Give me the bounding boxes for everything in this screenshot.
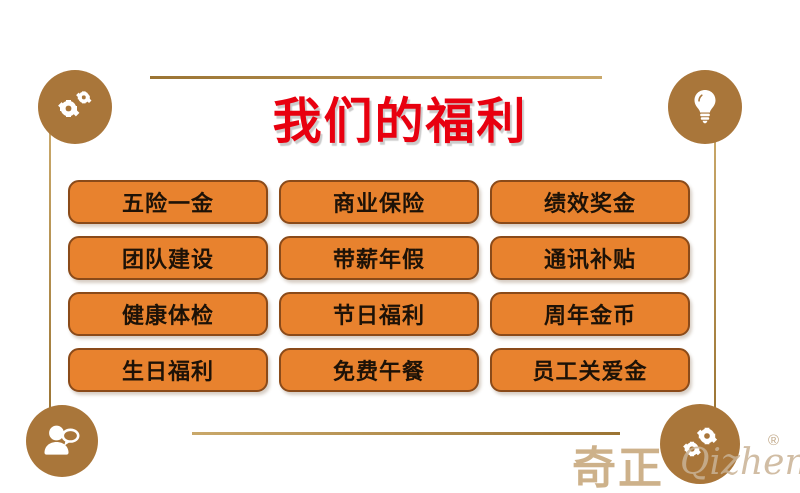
benefit-item[interactable]: 免费午餐: [279, 348, 479, 392]
benefit-item[interactable]: 员工关爱金: [490, 348, 690, 392]
benefit-item[interactable]: 节日福利: [279, 292, 479, 336]
frame-line-top: [150, 76, 602, 79]
badge-bottom-right: [660, 404, 740, 484]
benefit-item[interactable]: 商业保险: [279, 180, 479, 224]
benefit-item[interactable]: 生日福利: [68, 348, 268, 392]
watermark-text: 奇正: [572, 432, 664, 493]
gears-icon: [678, 424, 722, 464]
frame-line-bottom: [192, 432, 620, 435]
benefit-item[interactable]: 周年金币: [490, 292, 690, 336]
benefit-item[interactable]: 绩效奖金: [490, 180, 690, 224]
page-title: 我们的福利: [0, 82, 800, 153]
benefit-item[interactable]: 五险一金: [68, 180, 268, 224]
badge-bottom-left: [26, 405, 98, 477]
registered-mark: ®: [768, 432, 779, 449]
benefits-poster: 我们的福利 五险一金 商业保险 绩效奖金 团队建设 带薪年假 通讯补贴 健康体检…: [0, 0, 800, 493]
person-speech-bubble-icon: [42, 422, 82, 460]
frame-line-left: [49, 131, 51, 419]
benefit-item[interactable]: 团队建设: [68, 236, 268, 280]
benefit-item[interactable]: 健康体检: [68, 292, 268, 336]
benefits-grid: 五险一金 商业保险 绩效奖金 团队建设 带薪年假 通讯补贴 健康体检 节日福利 …: [68, 180, 690, 392]
benefit-item[interactable]: 通讯补贴: [490, 236, 690, 280]
frame-line-right: [714, 131, 716, 419]
benefit-item[interactable]: 带薪年假: [279, 236, 479, 280]
